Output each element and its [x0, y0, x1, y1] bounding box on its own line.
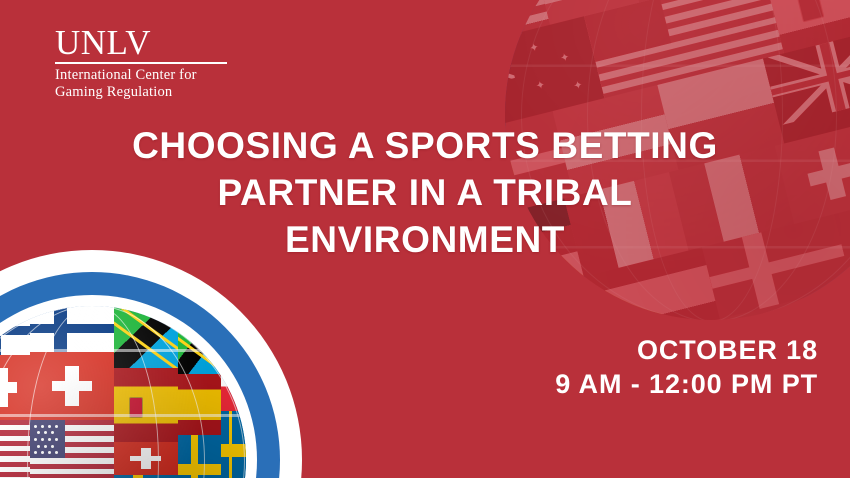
event-date: OCTOBER 18 — [555, 333, 818, 367]
title-line-2: PARTNER IN A TRIBAL — [0, 169, 850, 216]
page-title: CHOOSING A SPORTS BETTING PARTNER IN A T… — [0, 122, 850, 263]
title-line-1: CHOOSING A SPORTS BETTING — [0, 122, 850, 169]
unlv-logo: UNLV International Center for Gaming Reg… — [55, 26, 227, 101]
logo-divider — [55, 62, 227, 64]
event-poster: ✦ ✦ ✦ ✦ ✦ — [0, 0, 850, 478]
flag-globe-icon: ✦ ✦ ✦ — [0, 250, 302, 478]
title-line-3: ENVIRONMENT — [0, 216, 850, 263]
unlv-wordmark: UNLV — [55, 26, 227, 60]
logo-subtitle-line-1: International Center for — [55, 67, 227, 84]
event-datetime: OCTOBER 18 9 AM - 12:00 PM PT — [555, 333, 818, 401]
event-time: 9 AM - 12:00 PM PT — [555, 367, 818, 401]
logo-subtitle-line-2: Gaming Regulation — [55, 84, 227, 101]
